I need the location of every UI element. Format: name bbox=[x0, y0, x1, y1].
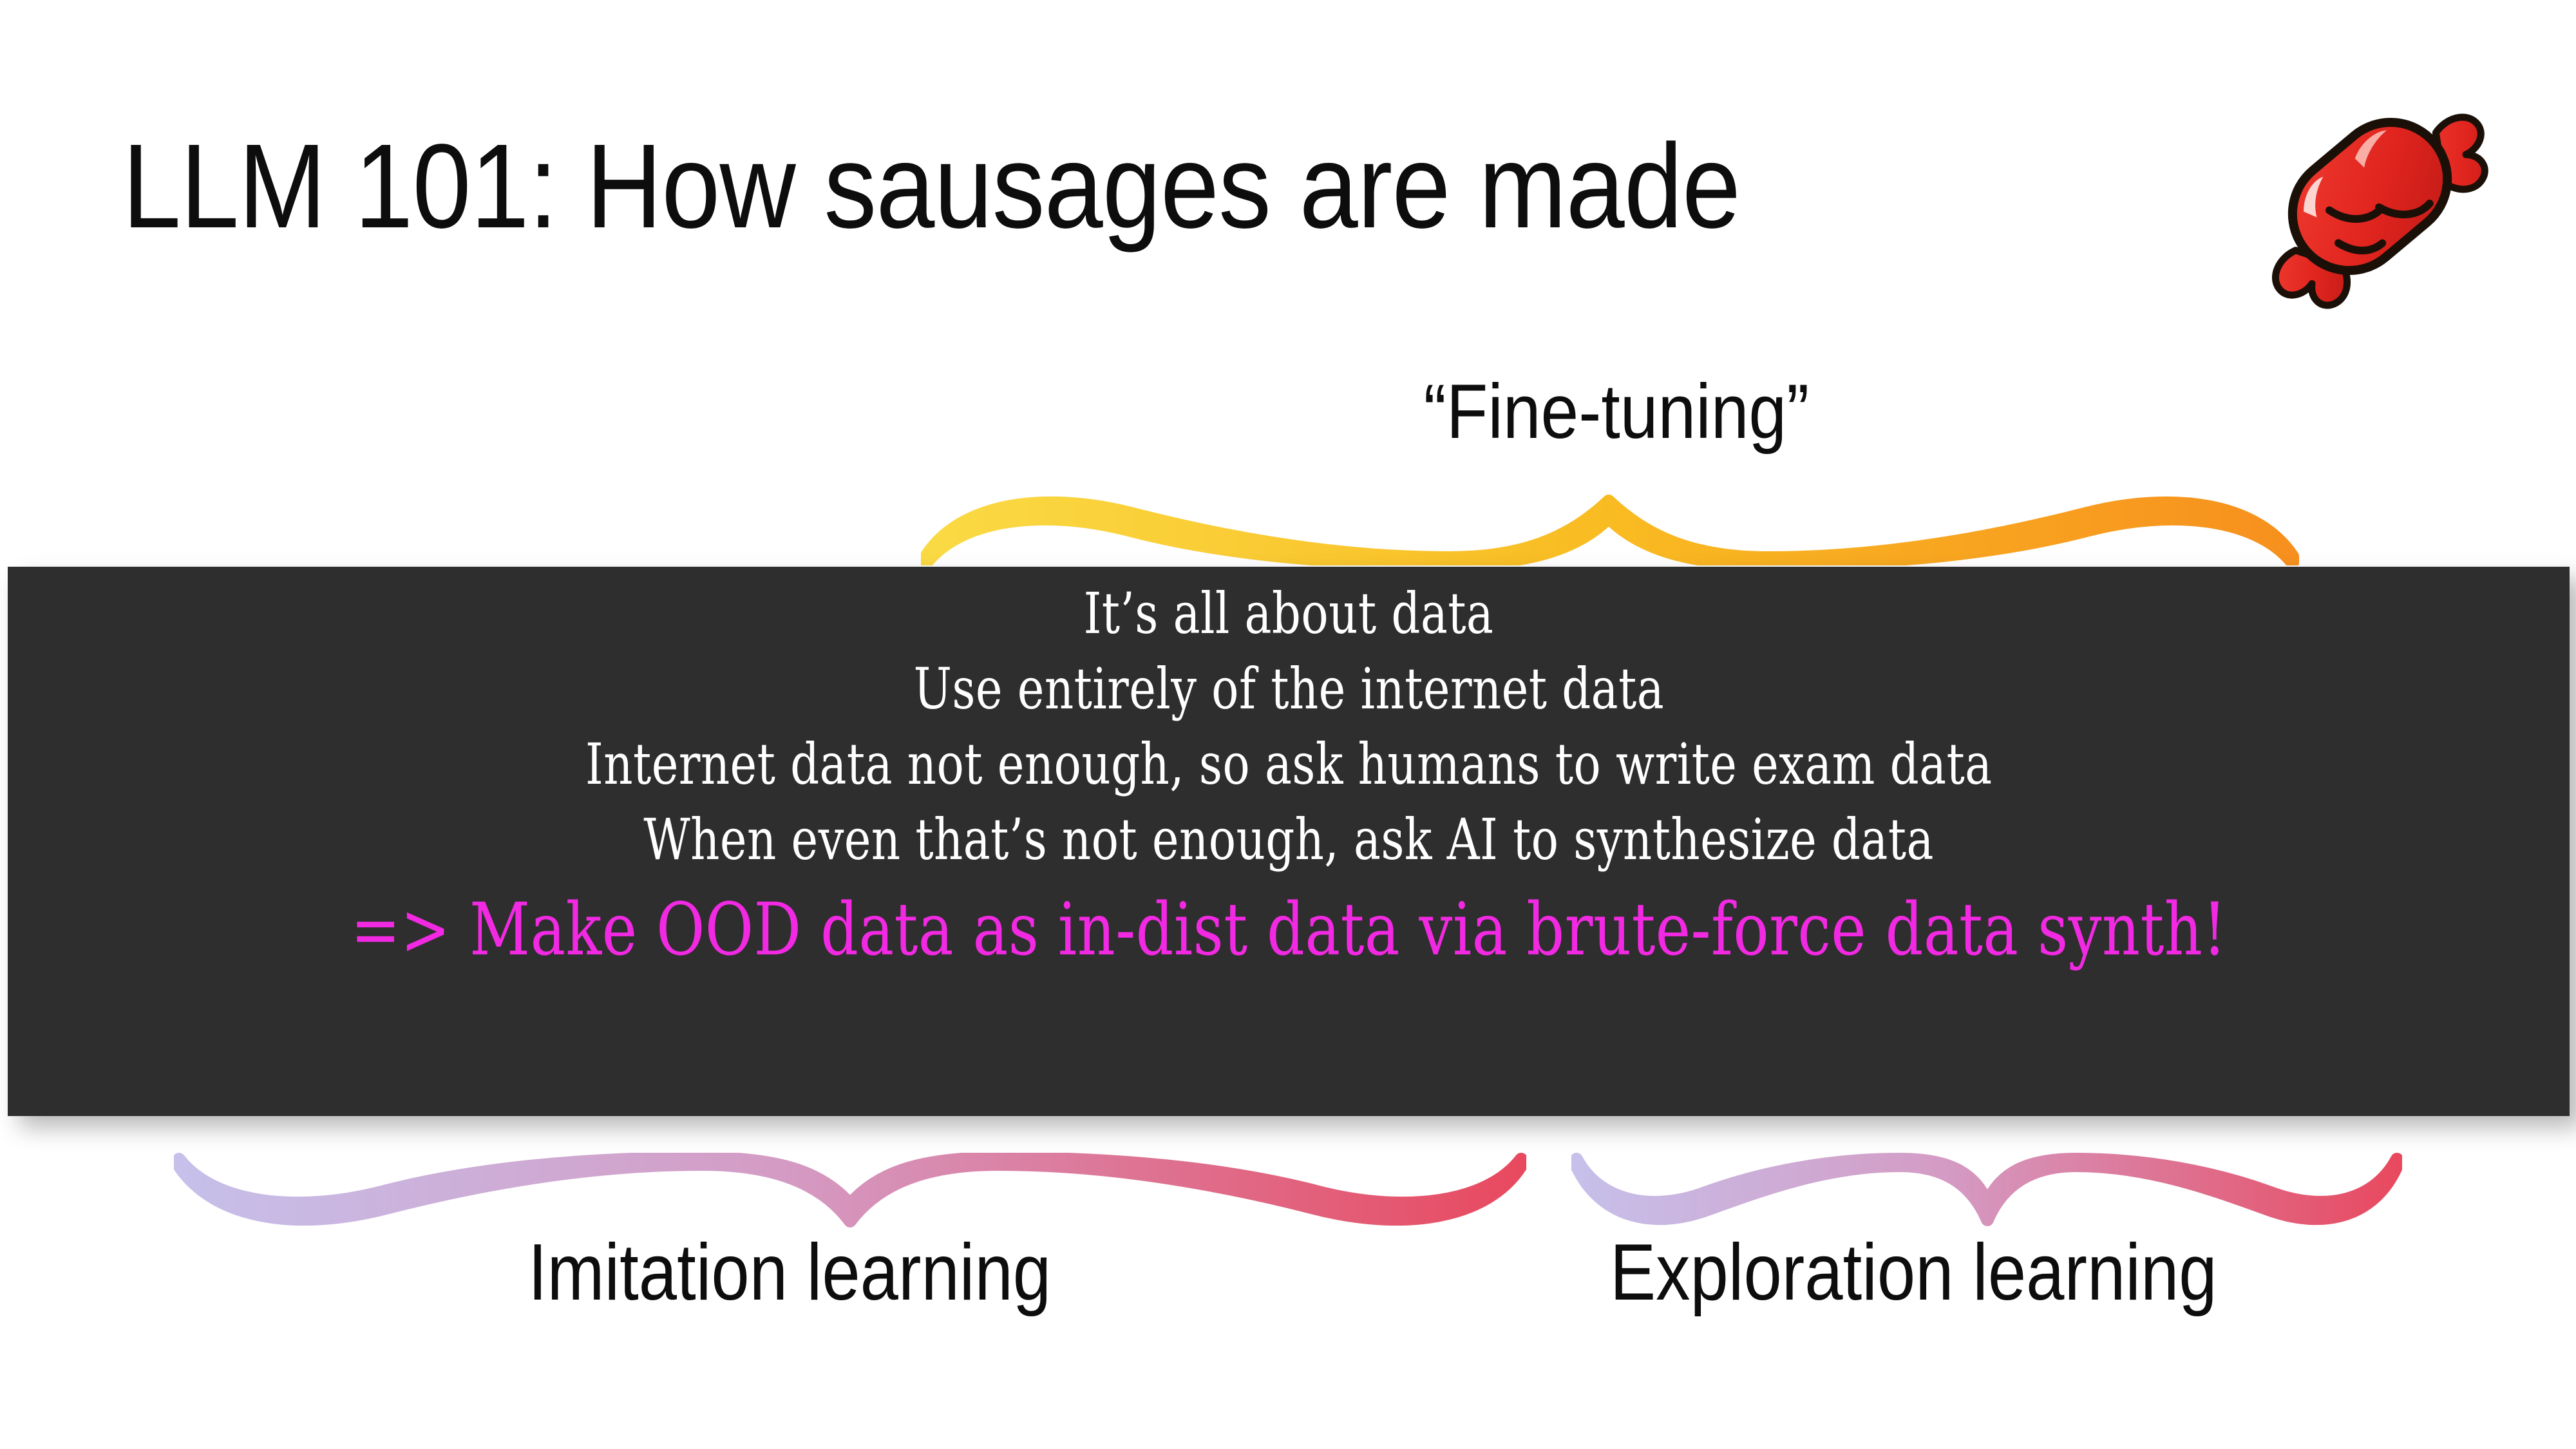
imitation-learning-label: Imitation learning bbox=[528, 1227, 1051, 1318]
sausage-icon bbox=[2190, 29, 2550, 364]
curly-brace-up-icon bbox=[921, 482, 2299, 565]
slide-canvas: LLM 101: How sausages are made bbox=[0, 0, 2576, 1449]
exploration-learning-label: Exploration learning bbox=[1610, 1227, 2217, 1318]
finetuning-label: “Fine-tuning” bbox=[1345, 367, 1889, 456]
panel-highlight-line: => Make OOD data as in-dist data via bru… bbox=[351, 884, 2227, 978]
panel-line: Internet data not enough, so ask humans … bbox=[585, 726, 1992, 802]
panel-line: It’s all about data bbox=[1084, 576, 1494, 651]
panel-line: When even that’s not enough, ask AI to s… bbox=[643, 802, 1933, 877]
content-panel: It’s all about data Use entirely of the … bbox=[8, 567, 2570, 1116]
page-title: LLM 101: How sausages are made bbox=[122, 124, 1740, 249]
panel-line: Use entirely of the internet data bbox=[913, 651, 1663, 726]
